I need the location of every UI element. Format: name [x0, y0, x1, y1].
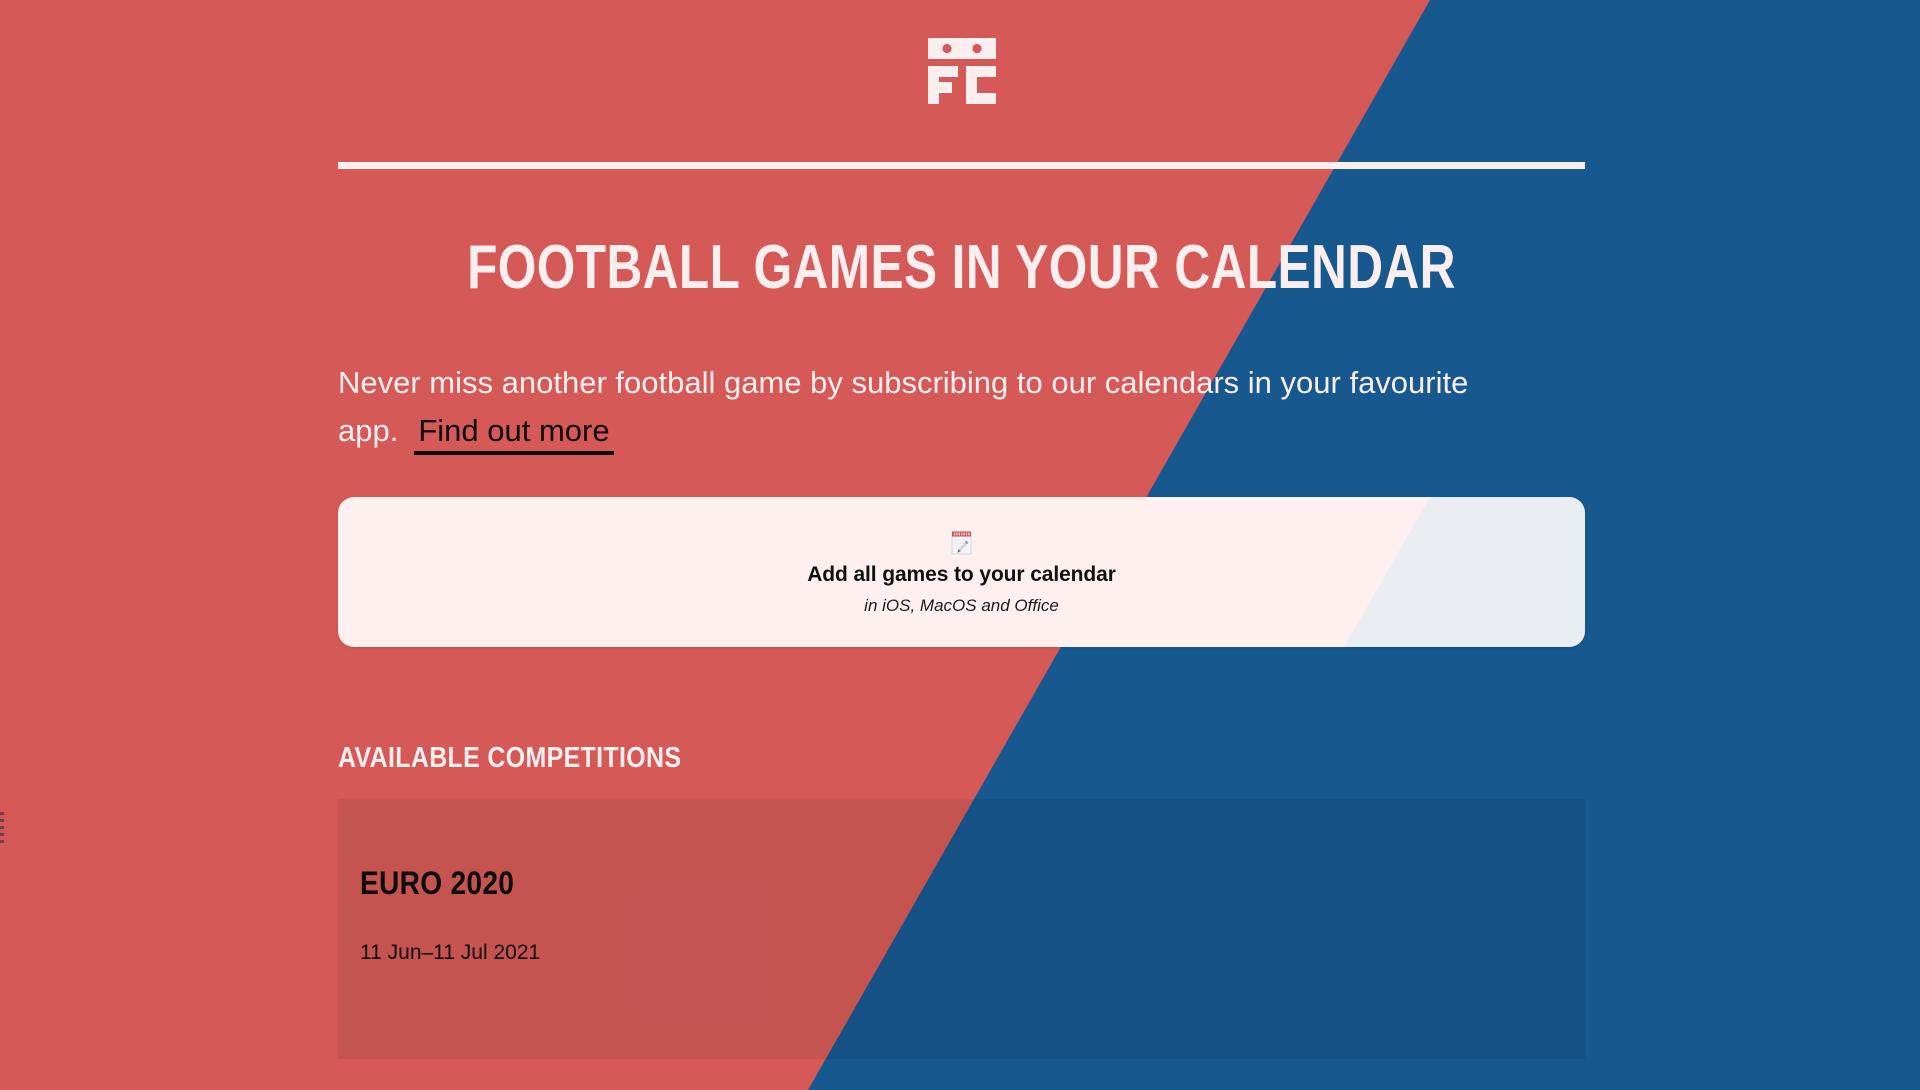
competition-card[interactable]: EURO 202011 Jun–11 Jul 2021: [338, 799, 1585, 1059]
competitions-list: EURO 202011 Jun–11 Jul 2021: [338, 799, 1585, 1059]
page-content: FOOTBALL GAMES IN YOUR CALENDAR Never mi…: [0, 0, 1920, 1090]
card-content: Add all games to your calendar in iOS, M…: [338, 497, 1585, 647]
content-column: FOOTBALL GAMES IN YOUR CALENDAR Never mi…: [338, 0, 1585, 1090]
card-subtitle: in iOS, MacOS and Office: [864, 596, 1059, 616]
left-edge-artifact: [0, 812, 4, 846]
header-divider: [338, 162, 1585, 169]
competition-name: EURO 2020: [360, 865, 1438, 902]
intro-paragraph: Never miss another football game by subs…: [338, 359, 1523, 455]
available-competitions-heading: AVAILABLE COMPETITIONS: [338, 742, 681, 775]
page-title: FOOTBALL GAMES IN YOUR CALENDAR: [463, 234, 1461, 302]
fc-calendar-logo-icon: [922, 32, 1002, 110]
memo-emoji-icon: [949, 529, 975, 557]
competition-dates: 11 Jun–11 Jul 2021: [360, 941, 1585, 965]
add-all-games-card[interactable]: Add all games to your calendar in iOS, M…: [338, 497, 1585, 647]
find-out-more-link[interactable]: Find out more: [414, 413, 613, 455]
brand-logo[interactable]: [338, 32, 1585, 110]
card-title: Add all games to your calendar: [807, 563, 1116, 587]
